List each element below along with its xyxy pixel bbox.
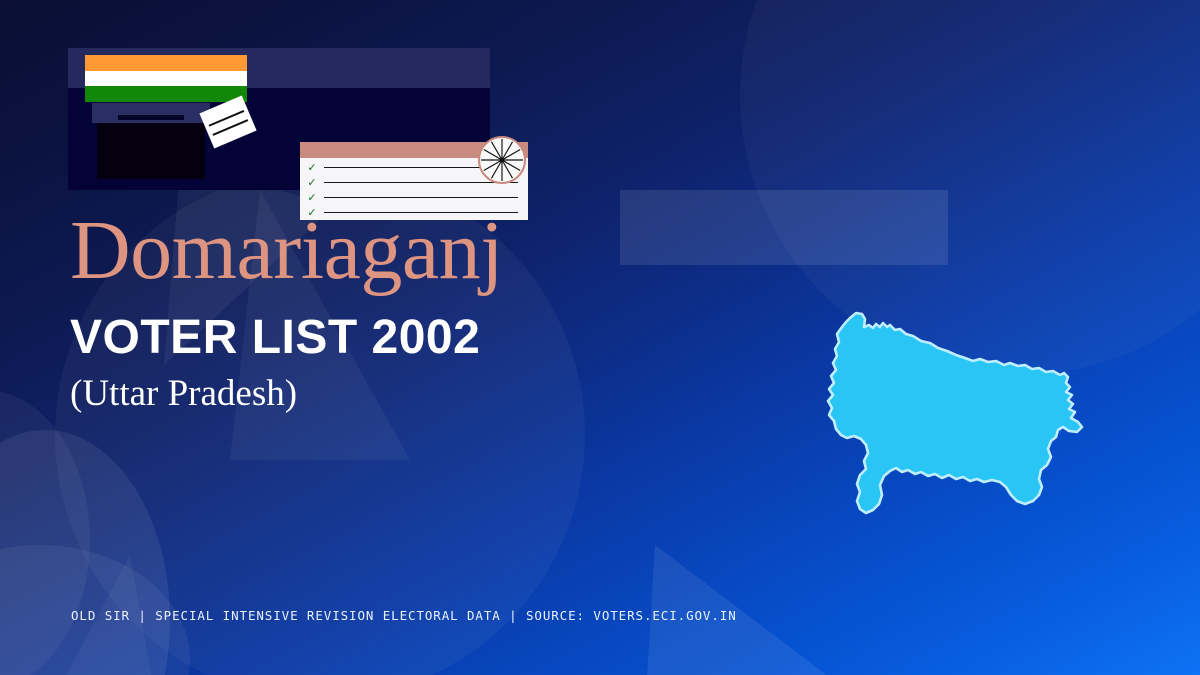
title-block: Domariaganj VOTER LIST 2002 (Uttar Prade…	[70, 210, 770, 414]
page-subtitle: VOTER LIST 2002	[70, 314, 770, 363]
ballot-box-lid	[92, 103, 210, 123]
flag-stripe-white	[85, 71, 247, 87]
ashoka-chakra-icon	[478, 136, 526, 184]
ballot-box-slot	[118, 115, 184, 120]
page-state-name: (Uttar Pradesh)	[70, 375, 770, 414]
bg-circle-far-left	[0, 390, 90, 675]
document-row: ✓	[300, 190, 528, 205]
bg-circle-bottom-left	[0, 430, 170, 675]
slide-canvas: ✓ ✓ ✓ ✓	[0, 0, 1200, 675]
flag-stripe-saffron	[85, 55, 247, 71]
footer-source-line: OLD SIR | SPECIAL INTENSIVE REVISION ELE…	[71, 608, 737, 623]
flag-stripe-green	[85, 86, 247, 102]
checkmark-icon: ✓	[300, 162, 324, 173]
election-illustration-panel: ✓ ✓ ✓ ✓	[68, 48, 490, 190]
ballot-box-body	[97, 123, 205, 179]
indian-tricolour-flag-icon	[85, 55, 247, 102]
uttar-pradesh-silhouette	[828, 313, 1082, 513]
document-text-line	[324, 182, 518, 183]
page-title: Domariaganj	[70, 210, 770, 292]
checkmark-icon: ✓	[300, 177, 324, 188]
uttar-pradesh-map	[820, 305, 1110, 570]
ballot-box-icon	[92, 103, 210, 179]
checkmark-icon: ✓	[300, 192, 324, 203]
document-text-line	[324, 197, 518, 198]
